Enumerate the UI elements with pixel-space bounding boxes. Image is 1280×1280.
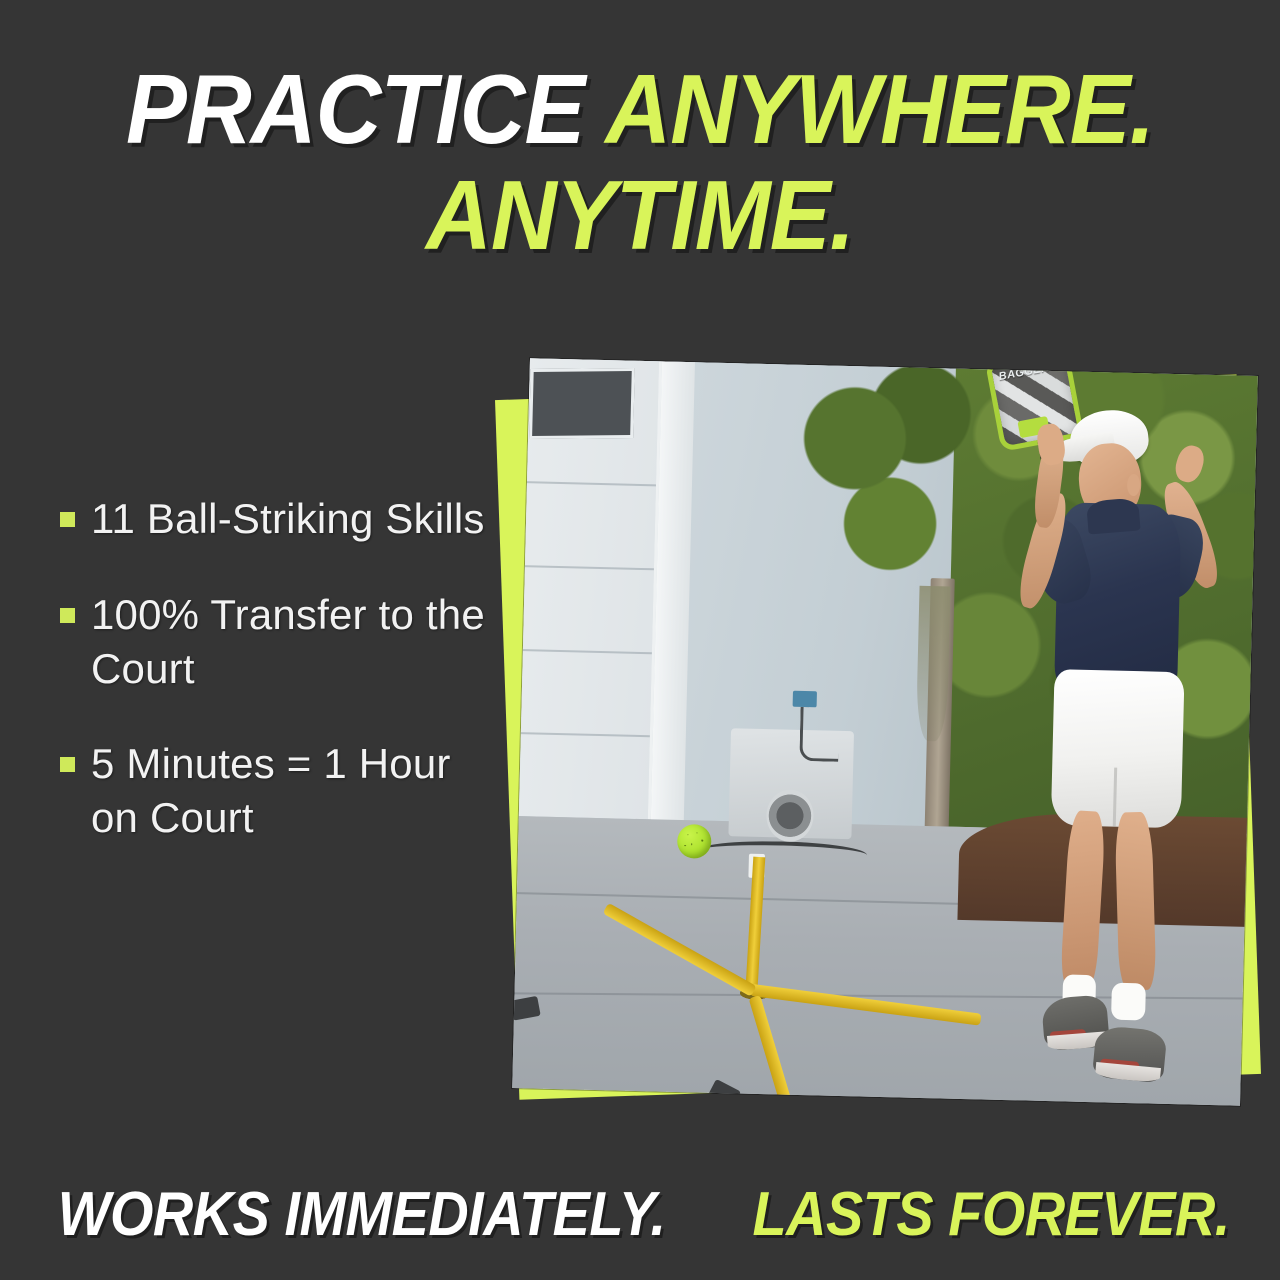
player-left-leg [1060, 810, 1106, 990]
list-item: 100% Transfer to the Court [60, 588, 490, 696]
spigot-hose [799, 707, 839, 762]
photo-frame: BAGGER [512, 358, 1258, 1106]
footer-works-immediately: WORKS IMMEDIATELY. [58, 1179, 666, 1250]
headline-anywhere: ANYWHERE. [605, 54, 1154, 164]
feature-bullet-list: 11 Ball-Striking Skills 100% Transfer to… [60, 492, 490, 845]
square-bullet-icon [60, 512, 75, 527]
headline-anytime: ANYTIME. [426, 160, 854, 270]
bullet-label: 100% Transfer to the Court [91, 588, 490, 696]
player-shorts [1051, 669, 1184, 828]
player-right-shoe [1092, 1025, 1168, 1083]
bullet-label: 11 Ball-Striking Skills [91, 492, 485, 546]
polo-collar [1087, 498, 1141, 535]
pickleball-paddle: BAGGER [986, 358, 1091, 482]
headline-line-1: PRACTICE ANYWHERE. [45, 62, 1235, 156]
footer-lasts-forever: LASTS FOREVER. [752, 1179, 1229, 1250]
player-right-leg [1115, 812, 1157, 991]
bullet-label: 5 Minutes = 1 Hour on Court [91, 737, 490, 845]
footer-tagline: WORKS IMMEDIATELY. LASTS FOREVER. [0, 1179, 1280, 1250]
headline-practice: PRACTICE [126, 54, 584, 164]
player-right-sock [1111, 983, 1146, 1021]
photo-image: BAGGER [512, 358, 1258, 1106]
paddle-brand-label: BAGGER [998, 362, 1051, 383]
hose-reel [766, 789, 814, 842]
water-spigot [793, 691, 817, 707]
list-item: 5 Minutes = 1 Hour on Court [60, 737, 490, 845]
square-bullet-icon [60, 608, 75, 623]
headline-line-2: ANYTIME. [45, 168, 1235, 262]
list-item: 11 Ball-Striking Skills [60, 492, 490, 546]
headline-block: PRACTICE ANYWHERE. ANYTIME. [0, 62, 1280, 262]
player-figure: BAGGER [915, 362, 1257, 1106]
product-photo-block: BAGGER [495, 345, 1265, 1115]
garage-window [529, 368, 635, 439]
player-right-hand [1172, 443, 1208, 486]
square-bullet-icon [60, 757, 75, 772]
